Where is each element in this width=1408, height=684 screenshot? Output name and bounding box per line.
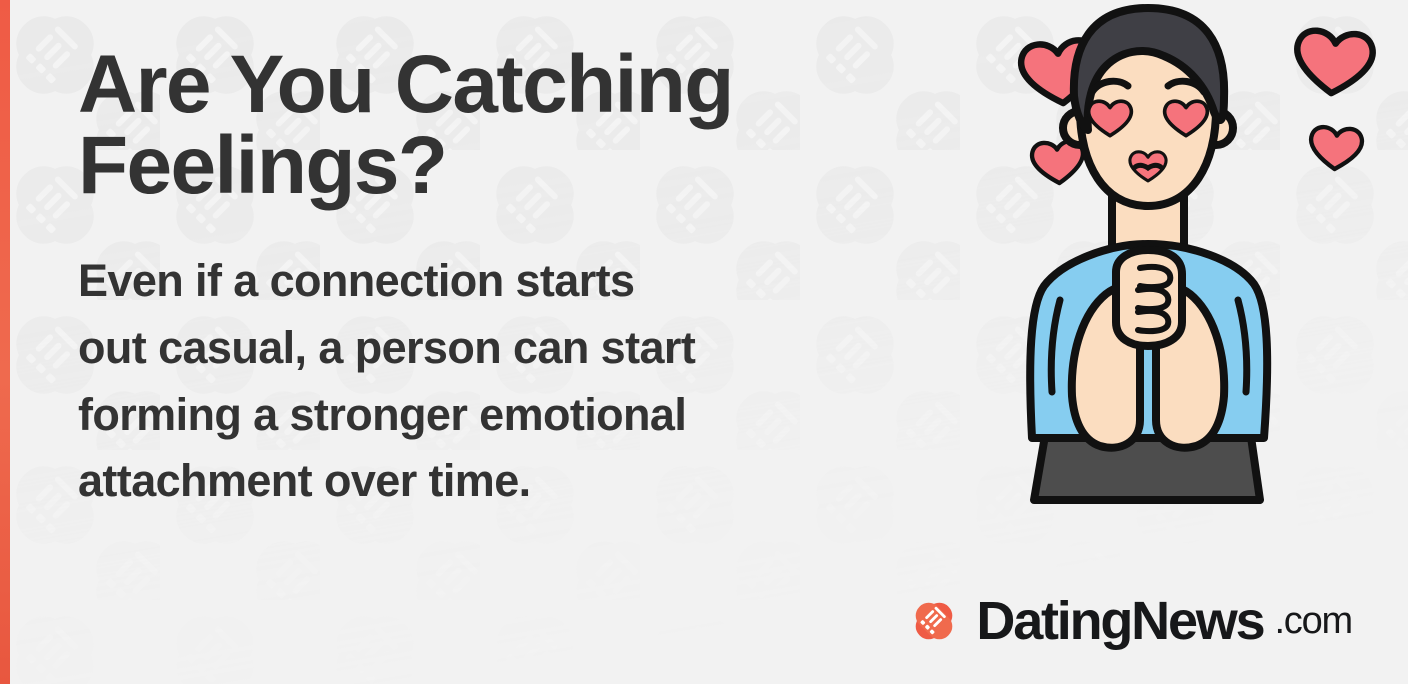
heart-logo-icon — [906, 595, 962, 647]
logo-tld: .com — [1274, 602, 1352, 640]
floating-heart-bottom-right — [1309, 126, 1363, 171]
headline-line-2: Feelings? — [78, 125, 938, 206]
page-title: Are You Catching Feelings? — [78, 44, 938, 206]
floating-heart-top-right — [1294, 29, 1375, 96]
subcopy-line-3: forming a stronger emotional — [78, 382, 938, 449]
subcopy-line-2: out casual, a person can start — [78, 315, 938, 382]
subcopy-line-4: attachment over time. — [78, 448, 938, 515]
subcopy-line-1: Even if a connection starts — [78, 248, 938, 315]
datingnews-logo[interactable]: DatingNews .com — [906, 594, 1352, 648]
subcopy-text: Even if a connection starts out casual, … — [78, 206, 938, 514]
promo-card: Are You Catching Feelings? Even if a con… — [0, 0, 1408, 684]
logo-wordmark: DatingNews — [976, 594, 1263, 648]
text-column: Are You Catching Feelings? Even if a con… — [78, 44, 938, 515]
headline-line-1: Are You Catching — [78, 44, 938, 125]
man-with-heart-eyes-illustration — [988, 0, 1408, 540]
left-accent-bar — [0, 0, 10, 684]
